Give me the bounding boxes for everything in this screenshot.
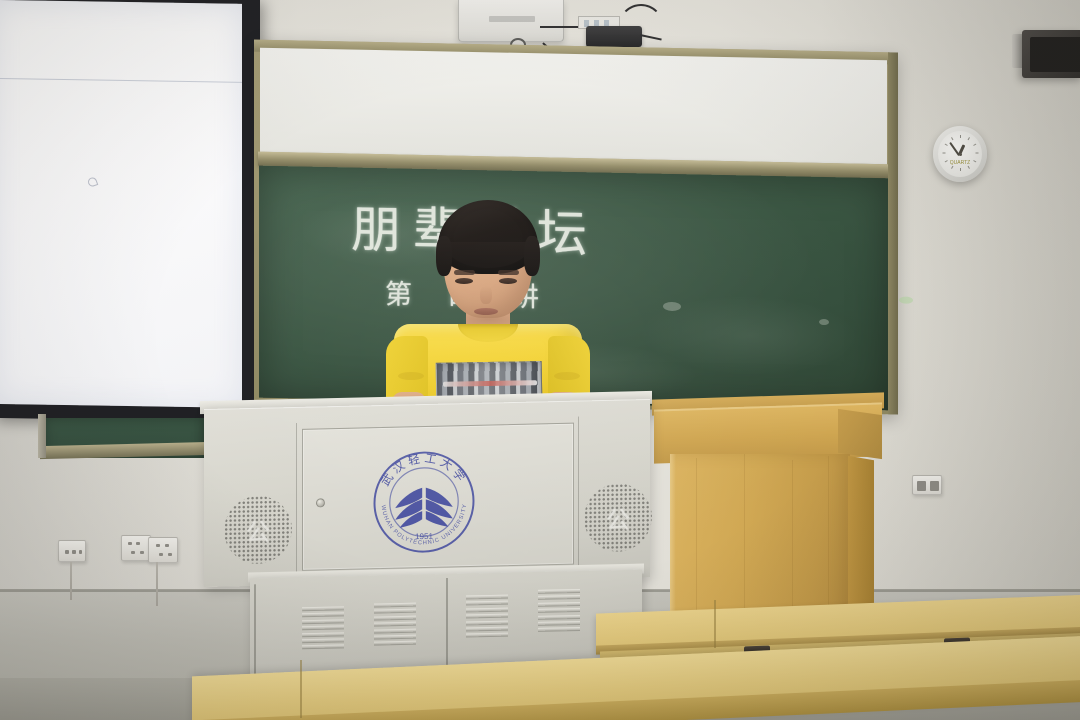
- wall-switch-right[interactable]: [912, 475, 942, 495]
- eye-right: [499, 278, 517, 284]
- nose: [480, 286, 492, 304]
- blackboard-upper-whiteboard: [260, 48, 887, 165]
- clock-face: QUARTZ: [938, 131, 982, 177]
- wall-socket-3[interactable]: [148, 537, 178, 563]
- desk-front-seam: [300, 660, 302, 718]
- podium-speaker-grille-right: 公: [584, 483, 652, 553]
- grille-logo-mark: 公: [246, 512, 270, 548]
- side-chalkboard-edge: [38, 414, 46, 458]
- clock-center-pin: [959, 153, 962, 156]
- university-emblem: 武汉轻工大学 WUHAN POLYTECHNIC UNIVERSITY 1951: [370, 447, 478, 557]
- eyebrow-left: [454, 270, 475, 275]
- multimedia-podium: 武汉轻工大学 WUHAN POLYTECHNIC UNIVERSITY 1951: [200, 396, 660, 616]
- wall-socket-2[interactable]: [121, 535, 151, 561]
- cabinet-vent: [302, 606, 344, 653]
- eye-left: [455, 278, 473, 284]
- classroom-photo: 朋辈讲坛 第 四 讲 QUARTZ: [0, 0, 1080, 720]
- podium-front-face: 武汉轻工大学 WUHAN POLYTECHNIC UNIVERSITY 1951: [204, 399, 650, 587]
- podium-speaker-grille-left: 公: [224, 495, 292, 565]
- hair-side-right: [524, 236, 540, 276]
- socket-wire-2: [156, 562, 158, 606]
- chalk-dust-green: [899, 297, 913, 304]
- cabinet-vent: [466, 595, 508, 642]
- device-brand-mark: [489, 16, 535, 22]
- wall-clock: QUARTZ: [933, 126, 987, 182]
- hair-side-left: [436, 236, 452, 276]
- tshirt-print-band: [443, 381, 537, 388]
- desk-panel-seam: [714, 600, 716, 648]
- cabinet-vent: [538, 589, 580, 636]
- chalk-dust: [663, 302, 681, 311]
- blackboard-right-edge: [888, 52, 898, 414]
- lectern-side-panel: [848, 456, 874, 623]
- wall-speaker: [1022, 30, 1080, 78]
- projection-screen-frame: [0, 0, 260, 422]
- emblem-year: 1951: [415, 532, 434, 541]
- projection-screen-surface: [0, 0, 242, 408]
- svg-text:武汉轻工大学: 武汉轻工大学: [379, 450, 470, 489]
- screen-seam: [0, 78, 242, 83]
- lectern-head-side: [838, 409, 882, 459]
- cabinet-vent: [374, 603, 416, 650]
- wooden-lectern: [652, 396, 884, 628]
- eyebrow-right: [498, 270, 519, 275]
- wall-socket-1[interactable]: [58, 540, 86, 562]
- screen-smudge: [87, 176, 99, 187]
- socket-wire-1: [70, 562, 72, 600]
- speaker-person: [388, 196, 588, 420]
- clock-brand-label: QUARTZ: [950, 160, 970, 166]
- grille-logo-mark: 公: [606, 500, 630, 536]
- lectern-body: [670, 454, 850, 626]
- chalk-dust: [819, 319, 829, 325]
